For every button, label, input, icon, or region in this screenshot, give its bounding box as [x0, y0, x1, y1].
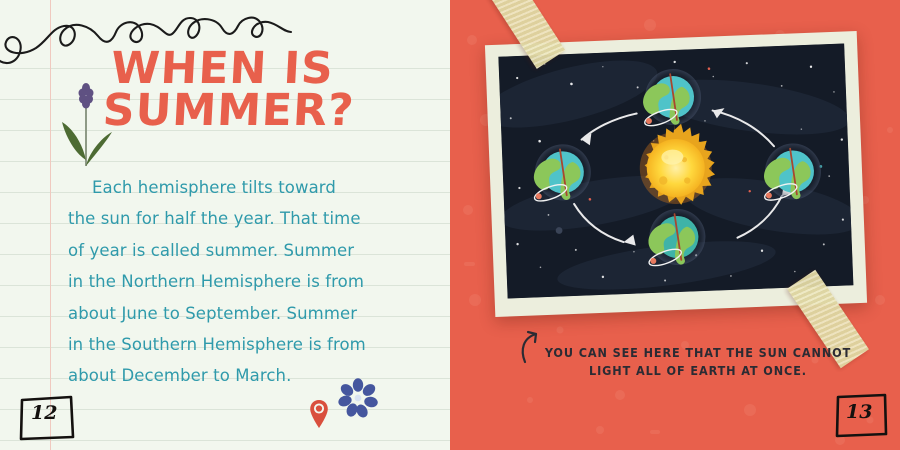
- body-line: in the Northern Hemisphere is from: [68, 266, 398, 297]
- body-line: Each hemisphere tilts toward: [68, 172, 398, 203]
- book-page-spread: WHEN IS SUMMER? Each hemisphere tilts to…: [0, 0, 900, 450]
- caption-line-1: YOU CAN SEE HERE THAT THE SUN CANNOT: [538, 344, 858, 362]
- body-line: in the Southern Hemisphere is from: [68, 329, 398, 360]
- page-number: 13: [846, 401, 872, 423]
- page-title: WHEN IS SUMMER?: [108, 48, 432, 132]
- body-line: the sun for half the year. That time: [68, 203, 398, 234]
- body-line: of year is called summer. Summer: [68, 235, 398, 266]
- earth-orbit-diagram: [498, 43, 853, 298]
- body-paragraph: Each hemisphere tilts toward the sun for…: [68, 172, 398, 392]
- photo-caption: YOU CAN SEE HERE THAT THE SUN CANNOT LIG…: [538, 344, 858, 380]
- left-page: WHEN IS SUMMER? Each hemisphere tilts to…: [0, 0, 450, 450]
- map-pin-icon: [308, 398, 330, 430]
- photo-image-area: [498, 43, 853, 298]
- caption-line-2: LIGHT ALL OF EARTH AT ONCE.: [538, 362, 858, 380]
- blue-flower-icon: [338, 378, 378, 418]
- title-line-2: SUMMER?: [102, 90, 430, 132]
- body-line: about June to September. Summer: [68, 298, 398, 329]
- page-number: 12: [31, 402, 57, 424]
- right-page: [450, 0, 900, 450]
